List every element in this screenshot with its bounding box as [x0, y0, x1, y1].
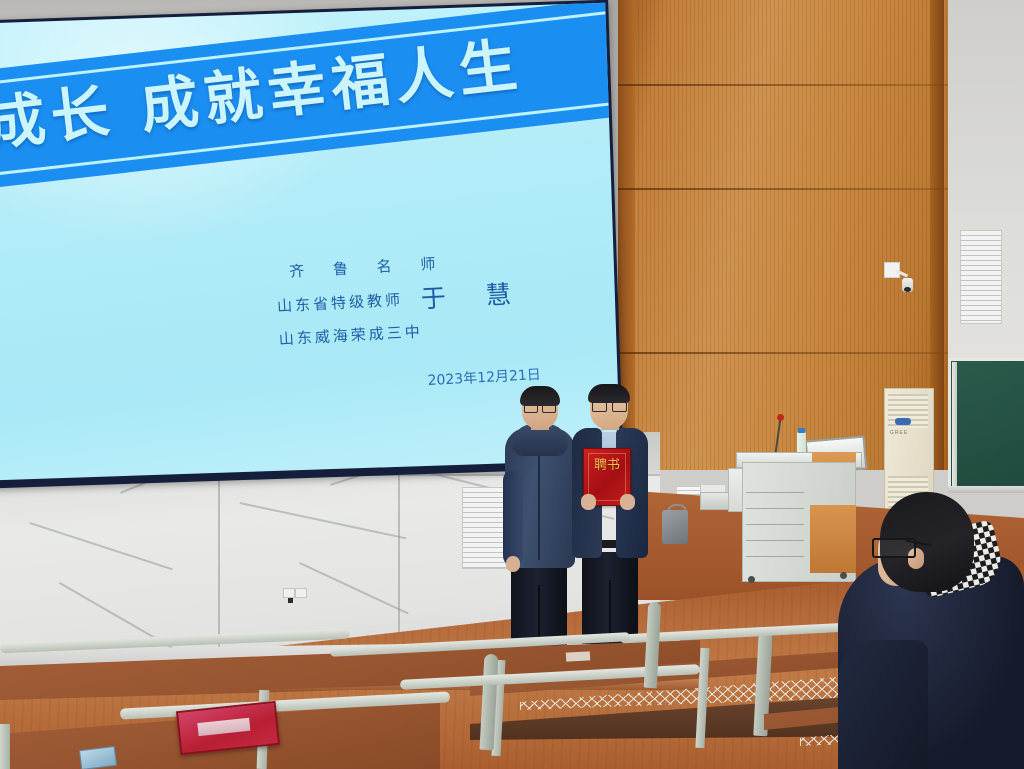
subtitle-line-2: 山东省特级教师	[276, 288, 403, 316]
wall-socket[interactable]	[295, 588, 307, 598]
left-man-sleeve	[503, 470, 523, 566]
slide-subtitle-block: 齐 鲁 名 师 山东省特级教师 于 慧 山东威海荣成三中	[275, 248, 529, 349]
lecture-hall-photo: GREE	[0, 0, 1024, 769]
podium-castor	[748, 576, 755, 583]
chalk-tray	[948, 486, 1024, 493]
wood-seam	[618, 188, 948, 190]
microphone-icon	[777, 414, 784, 421]
socket-port-icon	[288, 598, 293, 603]
chalkboard	[948, 358, 1024, 492]
presenter-name: 于 慧	[420, 274, 528, 316]
upper-wall-vent	[960, 230, 1002, 324]
wall-switch[interactable]	[283, 588, 295, 598]
glasses-icon	[542, 404, 556, 413]
wood-seam	[618, 84, 948, 86]
podium-accent-lower	[810, 505, 856, 573]
paper-sheet	[566, 651, 590, 661]
right-man-hand-left	[581, 494, 596, 510]
wood-seam	[618, 352, 948, 354]
glasses-icon	[612, 402, 627, 412]
left-man-hair	[520, 386, 560, 406]
right-plaster-wall	[940, 0, 1024, 420]
ac-brand-badge	[895, 418, 911, 425]
ac-brand-text: GREE	[890, 430, 908, 436]
chalkboard-frame	[952, 362, 957, 492]
podium-castor	[840, 572, 847, 579]
slide-date: 2023年12月21日	[427, 364, 541, 390]
glasses-icon	[524, 404, 538, 413]
right-man-hair	[588, 384, 630, 403]
desk-blue-item[interactable]	[79, 746, 117, 769]
handbag	[662, 510, 688, 544]
folder-label	[197, 718, 250, 736]
right-man-hand-right	[620, 494, 635, 510]
bottle-cap-icon	[798, 428, 805, 433]
desk-leg	[0, 724, 10, 769]
left-man-hand	[506, 556, 520, 572]
certificate-label: 聘书	[584, 457, 630, 476]
attendee-arm	[838, 640, 928, 769]
camera-lens-icon	[904, 287, 911, 292]
glasses-icon	[592, 402, 607, 412]
